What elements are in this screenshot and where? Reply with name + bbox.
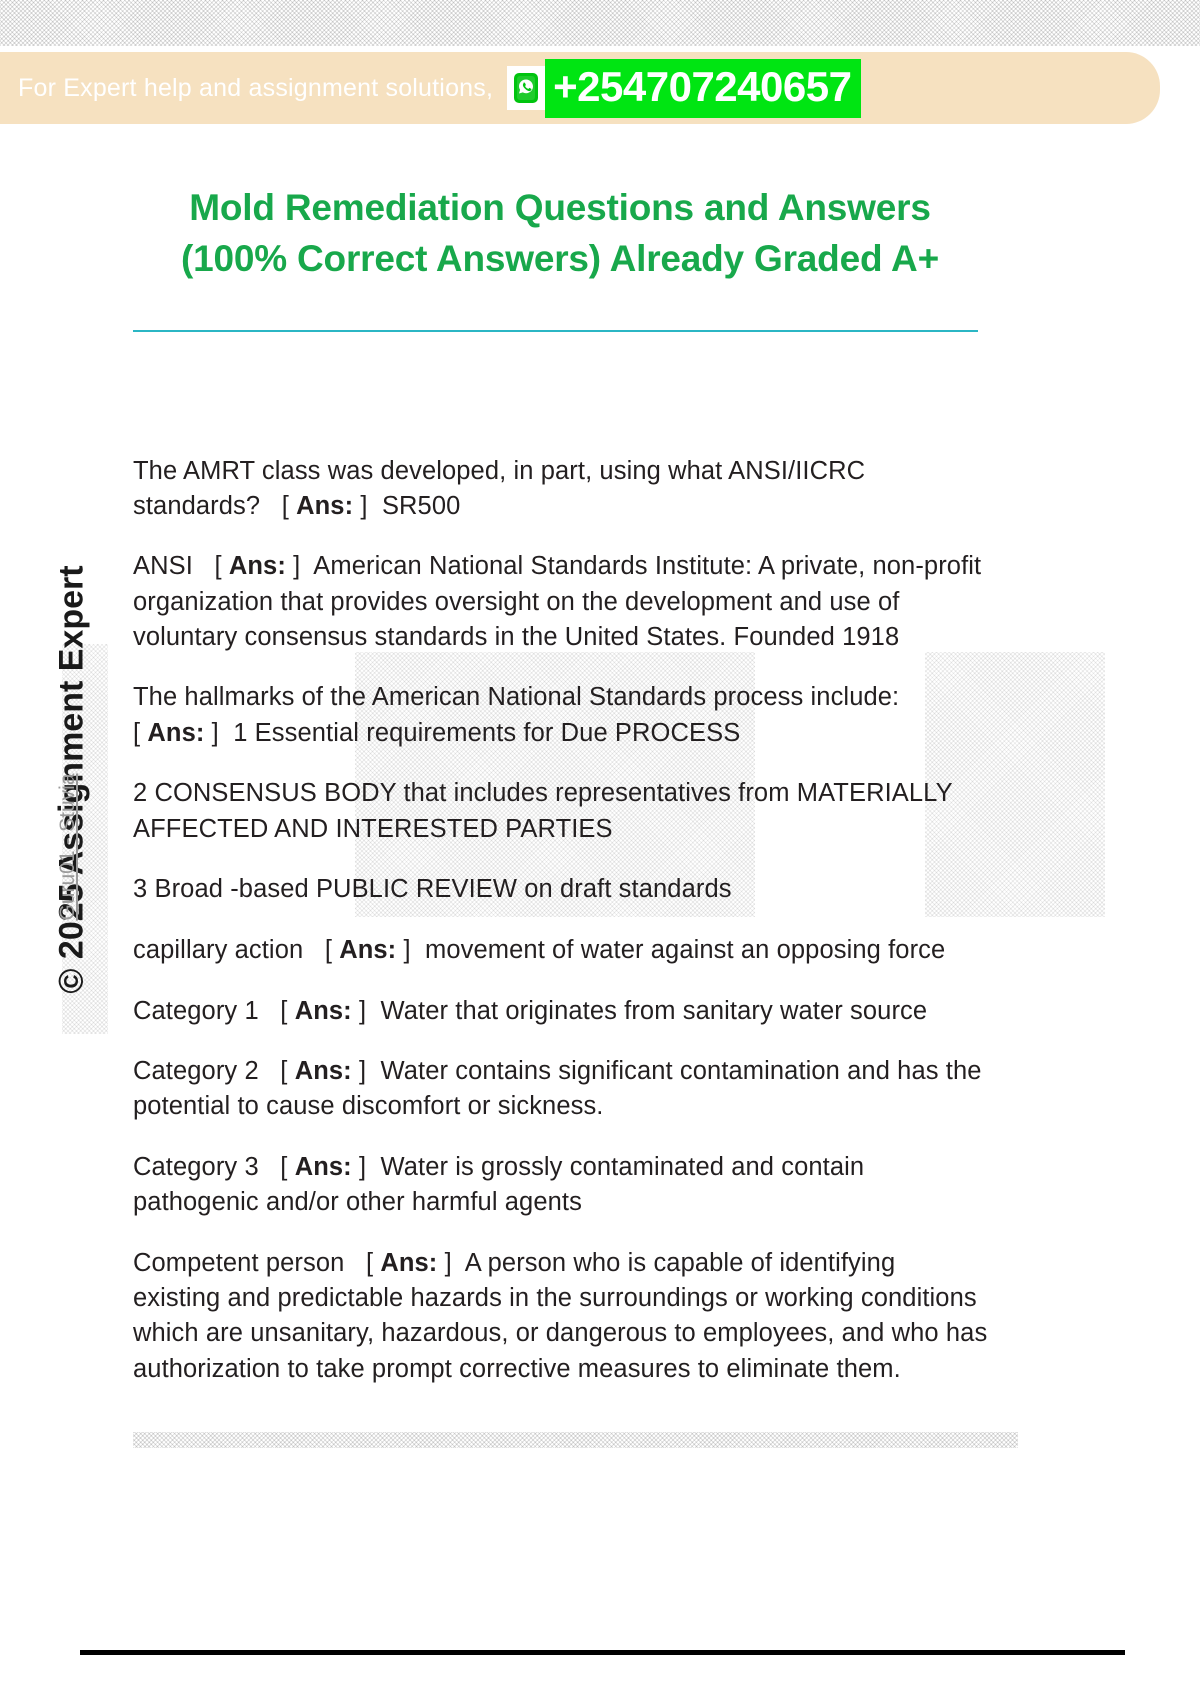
qa-block: The hallmarks of the American National S… — [133, 680, 988, 750]
qa-block: capillary action [ Ans: ] movement of wa… — [133, 933, 988, 968]
qa-bracket-close: ] — [352, 1153, 374, 1181]
qa-answer: SR500 — [382, 492, 460, 520]
whatsapp-phone-number[interactable]: +254707240657 — [545, 59, 861, 118]
qa-bracket-close: ] — [286, 552, 308, 580]
qa-answer: 1 Essential requirements for Due PROCESS — [233, 719, 740, 747]
qa-answer: movement of water against an opposing fo… — [425, 936, 945, 964]
qa-block: Category 3 [ Ans: ] Water is grossly con… — [133, 1150, 988, 1220]
qa-ans-label: Ans: — [295, 1153, 352, 1181]
qa-question: Category 1 — [133, 997, 259, 1025]
whatsapp-icon — [507, 66, 545, 110]
qa-answer: 3 Broad -based PUBLIC REVIEW on draft st… — [133, 875, 732, 903]
author-watermark: Guru01 - Stuvia — [56, 717, 80, 977]
qa-bracket-open: [ — [266, 1153, 295, 1181]
qa-bracket-open: [ — [266, 997, 295, 1025]
qa-ans-label: Ans: — [295, 997, 352, 1025]
qa-bracket-open: [ — [352, 1249, 381, 1277]
qa-ans-label: Ans: — [147, 719, 204, 747]
qa-bracket-close: ] — [396, 936, 418, 964]
promo-text: For Expert help and assignment solutions… — [18, 74, 493, 103]
qa-question: The hallmarks of the American National S… — [133, 683, 899, 711]
qa-bracket-close: ] — [352, 997, 374, 1025]
qa-block: ANSI [ Ans: ] American National Standard… — [133, 549, 988, 655]
promo-banner: For Expert help and assignment solutions… — [0, 52, 1160, 124]
qa-question: Category 3 — [133, 1153, 259, 1181]
bottom-divider — [133, 1432, 1018, 1448]
qa-answer: 2 CONSENSUS BODY that includes represent… — [133, 779, 952, 842]
qa-question: capillary action — [133, 936, 303, 964]
qa-bracket-close: ] — [204, 719, 226, 747]
qa-question: Category 2 — [133, 1057, 259, 1085]
qa-question: The AMRT class was developed, in part, u… — [133, 457, 865, 520]
page-bottom-bar — [80, 1650, 1125, 1655]
qa-content: The AMRT class was developed, in part, u… — [133, 428, 988, 1387]
qa-bracket-open: [ — [266, 1057, 295, 1085]
qa-bracket-close: ] — [352, 1057, 374, 1085]
side-watermark: © 2025 Assignment Expert Guru01 - Stuvia — [0, 560, 120, 1040]
qa-bracket-open: [ — [310, 936, 339, 964]
qa-ans-label: Ans: — [339, 936, 396, 964]
qa-ans-label: Ans: — [295, 1057, 352, 1085]
qa-answer: Water contains significant contamination… — [133, 1057, 982, 1120]
qa-block: 2 CONSENSUS BODY that includes represent… — [133, 776, 988, 846]
top-texture-strip — [0, 0, 1200, 46]
qa-question: Competent person — [133, 1249, 344, 1277]
qa-bracket-open: [ — [267, 492, 296, 520]
qa-answer: Water that originates from sanitary wate… — [381, 997, 928, 1025]
qa-block: Competent person [ Ans: ] A person who i… — [133, 1246, 988, 1387]
qa-bracket-close: ] — [353, 492, 375, 520]
qa-ans-label: Ans: — [229, 552, 286, 580]
page-title: Mold Remediation Questions and Answers (… — [140, 182, 980, 285]
qa-question: ANSI — [133, 552, 193, 580]
qa-bracket-open: [ — [200, 552, 229, 580]
qa-block: 3 Broad -based PUBLIC REVIEW on draft st… — [133, 872, 988, 907]
title-divider — [133, 330, 978, 332]
qa-block: Category 2 [ Ans: ] Water contains signi… — [133, 1054, 988, 1124]
qa-block: Category 1 [ Ans: ] Water that originate… — [133, 994, 988, 1029]
qa-ans-label: Ans: — [296, 492, 353, 520]
qa-ans-label: Ans: — [380, 1249, 437, 1277]
qa-bracket-close: ] — [437, 1249, 459, 1277]
qa-block: The AMRT class was developed, in part, u… — [133, 454, 988, 524]
